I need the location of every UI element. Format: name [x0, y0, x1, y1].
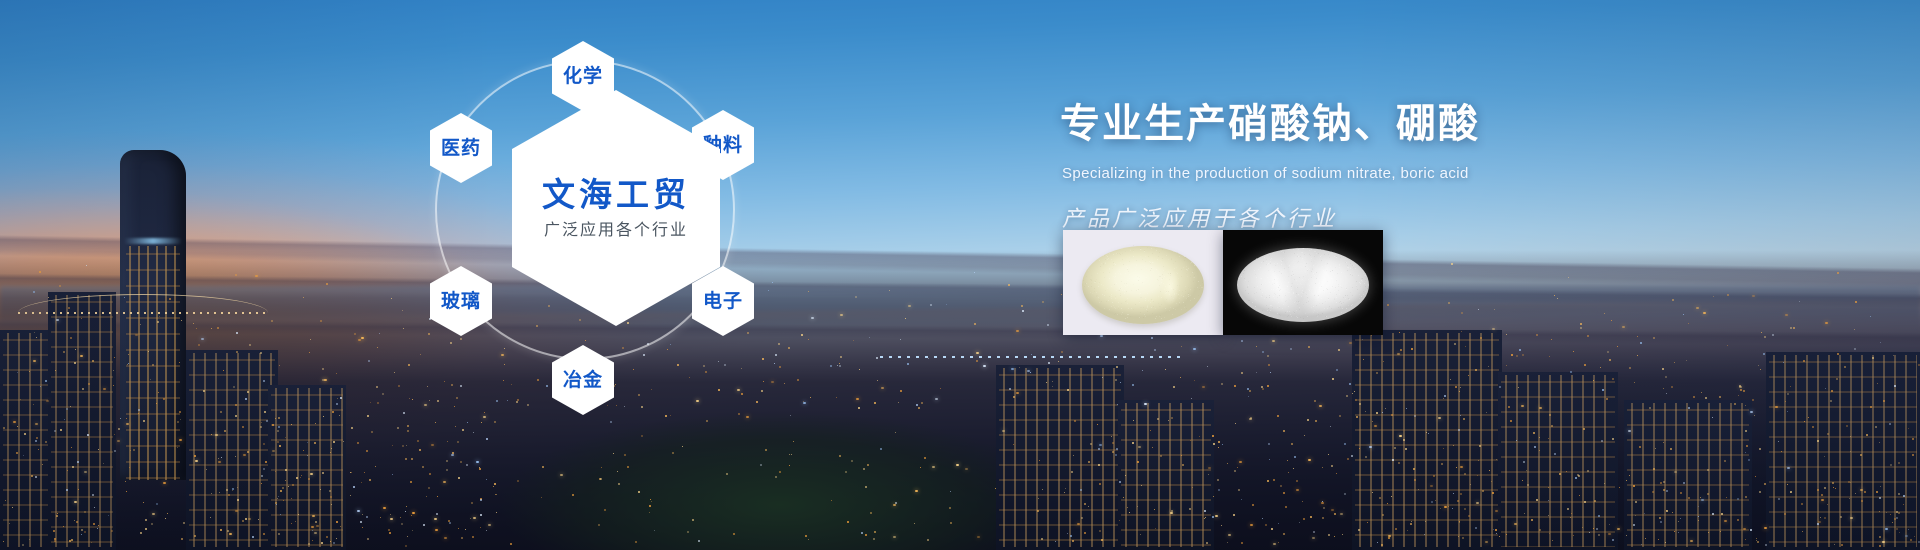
- headline-english: Specializing in the production of sodium…: [1062, 166, 1469, 181]
- powder-grain-texture: [1063, 230, 1223, 335]
- hex-label: 冶金: [563, 371, 603, 390]
- hex-label: 医药: [441, 139, 481, 158]
- product-photo-boric-acid[interactable]: [1223, 230, 1383, 335]
- brand-name: 文海工贸: [542, 178, 690, 211]
- industry-hexagon-diagram: 化学 釉料 电子 冶金 玻璃 医药 文海工贸 广泛应用各个行业: [380, 0, 880, 550]
- promo-banner: 化学 釉料 电子 冶金 玻璃 医药 文海工贸 广泛应用各个行业 专业生产硝酸钠、…: [0, 0, 1920, 550]
- product-photo-sodium-nitrate[interactable]: [1063, 230, 1223, 335]
- hex-label: 化学: [563, 67, 603, 86]
- marketing-copy-block: 专业生产硝酸钠、硼酸 Specializing in the productio…: [1060, 0, 1760, 550]
- brand-tagline: 广泛应用各个行业: [544, 223, 688, 239]
- hex-label: 电子: [703, 292, 743, 311]
- headline: 专业生产硝酸钠、硼酸: [1060, 104, 1480, 144]
- hex-label: 玻璃: [441, 292, 481, 311]
- powder-grain-texture: [1223, 230, 1383, 335]
- script-tagline: 产品广泛应用于各个行业: [1062, 208, 1337, 230]
